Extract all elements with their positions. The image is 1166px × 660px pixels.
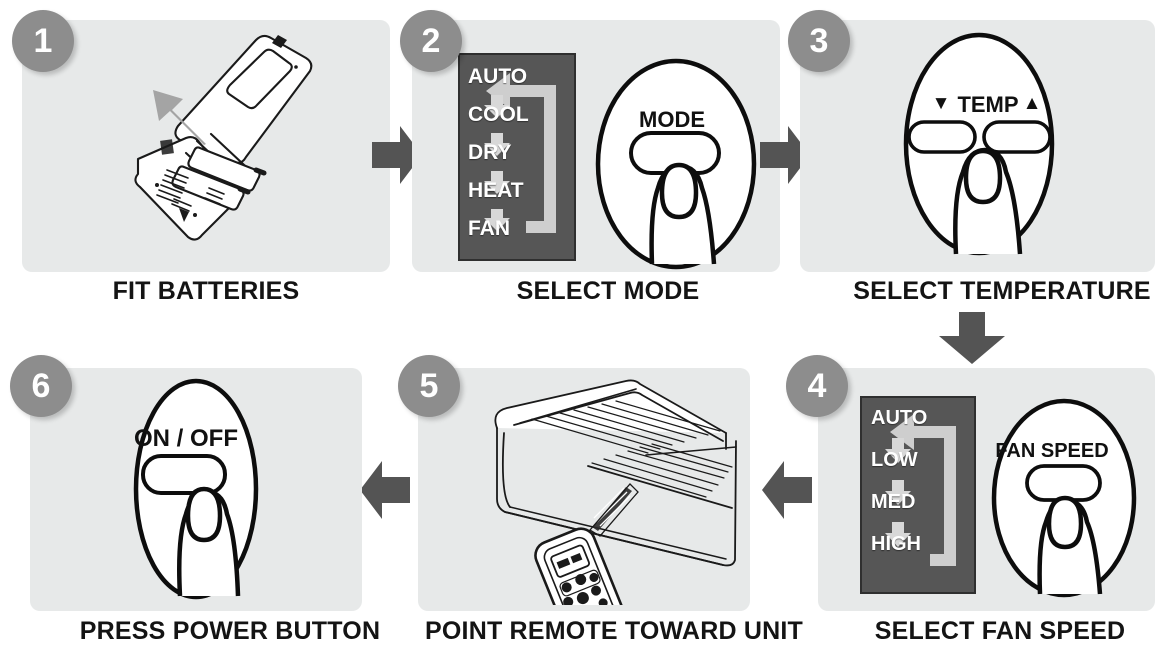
step-badge-5: 5 <box>398 355 460 417</box>
mode-cycle-panel: AUTO COOL DRY HEAT FAN <box>458 53 576 261</box>
step-caption-1: FIT BATTERIES <box>113 277 300 306</box>
step-badge-6: 6 <box>10 355 72 417</box>
ir-signal-icon <box>590 484 638 536</box>
remote-battery-illustration <box>60 22 370 270</box>
step-caption-3: SELECT TEMPERATURE <box>853 277 1151 306</box>
connector-arrow-down <box>935 310 1009 366</box>
mode-item-heat: HEAT <box>468 179 524 203</box>
mode-item-fan: FAN <box>468 217 510 241</box>
wall-unit-and-remote-illustration <box>480 375 740 605</box>
mode-button-illustration <box>586 58 766 270</box>
step-badge-4: 4 <box>786 355 848 417</box>
fan-speed-cycle-panel: AUTO LOW MED HIGH <box>860 396 976 594</box>
step-caption-2: SELECT MODE <box>517 277 700 306</box>
fan-speed-cycle-labels: AUTO LOW MED HIGH <box>862 398 974 592</box>
fan-item-high: HIGH <box>871 533 921 556</box>
fan-item-med: MED <box>871 491 915 514</box>
fan-item-auto: AUTO <box>871 407 927 430</box>
step-caption-4: SELECT FAN SPEED <box>875 617 1125 646</box>
mode-item-dry: DRY <box>468 141 512 165</box>
temp-buttons-illustration <box>888 30 1070 258</box>
connector-arrow-left-2 <box>358 455 418 525</box>
power-button-illustration <box>130 378 262 600</box>
mode-item-auto: AUTO <box>468 65 527 89</box>
connector-arrow-left-1 <box>760 455 820 525</box>
step-caption-5: POINT REMOTE TOWARD UNIT <box>425 617 803 646</box>
step-badge-2: 2 <box>400 10 462 72</box>
power-button-label: ON / OFF <box>134 425 238 453</box>
step-caption-6: PRESS POWER BUTTON <box>80 617 380 646</box>
mode-item-cool: COOL <box>468 103 529 127</box>
instruction-diagram: 1 <box>0 0 1166 660</box>
step-badge-1: 1 <box>12 10 74 72</box>
mode-button-label: MODE <box>639 107 705 133</box>
fan-item-low: LOW <box>871 449 918 472</box>
step-badge-3: 3 <box>788 10 850 72</box>
temp-down-symbol: ▼ <box>932 93 951 115</box>
temp-button-label: TEMP <box>957 92 1018 118</box>
fan-speed-button-label: FAN SPEED <box>995 440 1108 463</box>
temp-up-symbol: ▲ <box>1023 93 1042 115</box>
mode-cycle-labels: AUTO COOL DRY HEAT FAN <box>460 55 574 259</box>
fan-speed-button-illustration <box>982 398 1146 598</box>
